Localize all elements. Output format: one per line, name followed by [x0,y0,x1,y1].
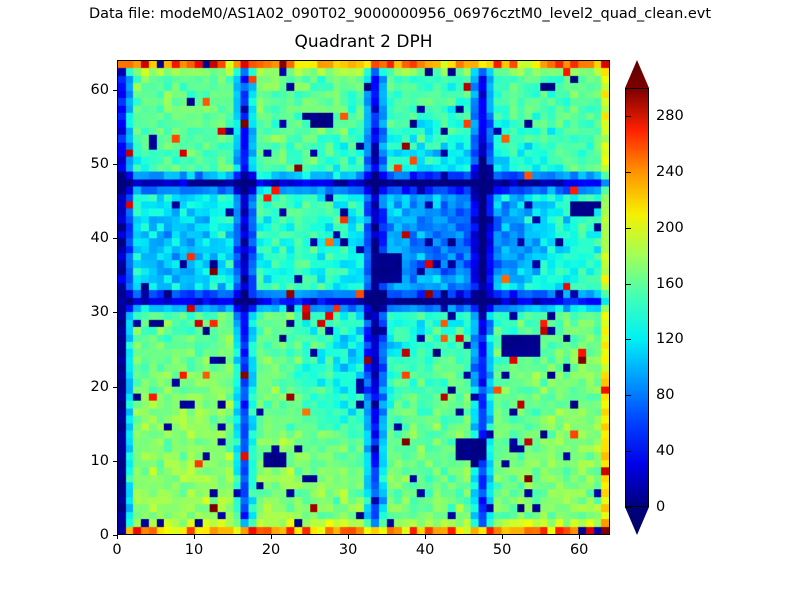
y-tick-label: 10 [67,453,109,469]
y-tick-mark [113,238,117,239]
colorbar-tick-mark [625,228,631,229]
y-tick-label: 40 [67,230,109,246]
y-tick-mark [113,164,117,165]
colorbar-tick-mark [625,451,631,452]
y-tick-mark [113,461,117,462]
y-tick-mark [113,387,117,388]
y-tick-label: 50 [67,156,109,172]
colorbar-tick-mark [625,339,631,340]
y-tick-label: 0 [67,527,109,543]
colorbar-gradient [626,89,648,506]
y-tick-label: 20 [67,379,109,395]
heatmap-image [118,61,609,534]
x-tick-mark [117,535,118,539]
x-tick-mark [502,535,503,539]
x-tick-label: 40 [416,542,434,558]
colorbar-tick-label: 40 [656,443,674,459]
colorbar-tick-label: 160 [656,276,684,292]
x-tick-label: 20 [262,542,280,558]
x-tick-label: 10 [185,542,203,558]
colorbar-tick-mark [625,284,631,285]
x-tick-label: 30 [339,542,357,558]
x-tick-mark [271,535,272,539]
y-tick-mark [113,535,117,536]
x-tick-mark [348,535,349,539]
x-tick-label: 0 [112,542,121,558]
colorbar-tick-label: 200 [656,220,684,236]
colorbar-over-arrow-icon [625,60,649,88]
y-tick-label: 30 [67,304,109,320]
x-tick-mark [425,535,426,539]
colorbar-tick-mark [625,172,631,173]
axes-title: Quadrant 2 DPH [117,32,610,52]
heatmap-axes [117,60,610,535]
colorbar-tick-label: 0 [656,499,665,515]
colorbar-gradient-box [625,88,649,507]
colorbar-tick-mark [625,116,631,117]
y-tick-mark [113,312,117,313]
colorbar-tick-label: 280 [656,108,684,124]
y-tick-label: 60 [67,82,109,98]
colorbar: 04080120160200240280 [625,60,649,535]
x-tick-label: 60 [570,542,588,558]
colorbar-tick-label: 120 [656,331,684,347]
x-tick-mark [194,535,195,539]
colorbar-tick-mark [625,507,631,508]
y-tick-mark [113,90,117,91]
colorbar-tick-label: 240 [656,164,684,180]
x-tick-mark [579,535,580,539]
colorbar-tick-mark [625,395,631,396]
x-tick-label: 50 [493,542,511,558]
figure-canvas: Data file: modeM0/AS1A02_090T02_90000009… [0,0,800,600]
colorbar-under-arrow-icon [625,507,649,535]
colorbar-tick-label: 80 [656,387,674,403]
suptitle-data-file: Data file: modeM0/AS1A02_090T02_90000009… [0,6,800,22]
